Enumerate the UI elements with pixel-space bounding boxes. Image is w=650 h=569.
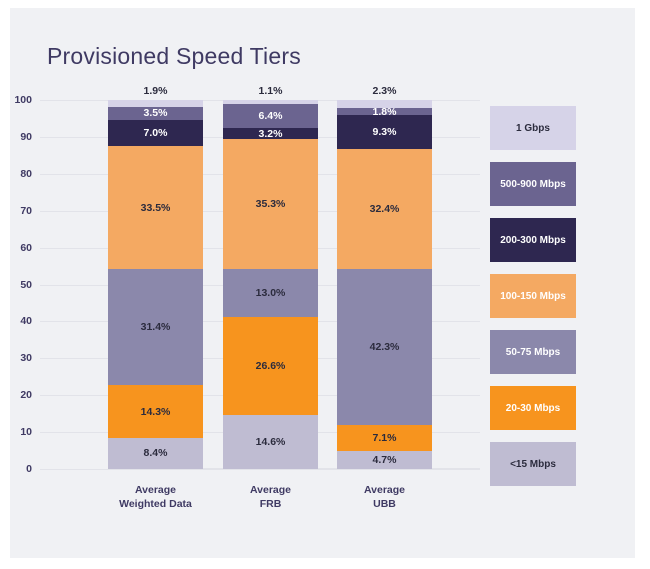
bar-segment[interactable]: 35.3% — [223, 139, 318, 269]
y-axis-tick-label: 10 — [20, 426, 32, 438]
bar-segment[interactable] — [337, 100, 432, 108]
bar-segment[interactable]: 7.0% — [108, 120, 203, 146]
legend-item[interactable]: 100-150 Mbps — [490, 274, 576, 318]
bar-group[interactable]: 1.8%9.3%32.4%42.3%7.1%4.7%2.3%AverageUBB — [337, 100, 432, 469]
y-axis-tick-label: 50 — [20, 279, 32, 291]
y-axis-tick-label: 70 — [20, 205, 32, 217]
y-axis-tick-label: 20 — [20, 389, 32, 401]
y-axis-tick-label: 80 — [20, 168, 32, 180]
legend-item[interactable]: 500-900 Mbps — [490, 162, 576, 206]
bar-segment[interactable]: 8.4% — [108, 438, 203, 469]
legend-item[interactable]: 50-75 Mbps — [490, 330, 576, 374]
y-axis-tick-label: 40 — [20, 315, 32, 327]
legend-item[interactable]: 200-300 Mbps — [490, 218, 576, 262]
bar-group[interactable]: 6.4%3.2%35.3%13.0%26.6%14.6%1.1%AverageF… — [223, 100, 318, 469]
y-axis-tick-label: 90 — [20, 131, 32, 143]
stacked-bar[interactable]: 1.8%9.3%32.4%42.3%7.1%4.7% — [337, 100, 432, 469]
chart-plot-area: 1009080706050403020100 3.5%7.0%33.5%31.4… — [40, 100, 480, 478]
bar-segment[interactable]: 13.0% — [223, 269, 318, 317]
bar-segment[interactable]: 4.7% — [337, 451, 432, 468]
y-axis-tick-label: 30 — [20, 352, 32, 364]
bar-segment[interactable]: 31.4% — [108, 269, 203, 385]
bar-group[interactable]: 3.5%7.0%33.5%31.4%14.3%8.4%1.9%AverageWe… — [108, 100, 203, 469]
chart-card: Provisioned Speed Tiers 1009080706050403… — [10, 8, 635, 558]
chart-legend: 1 Gbps500-900 Mbps200-300 Mbps100-150 Mb… — [490, 106, 576, 498]
bar-segment[interactable] — [108, 100, 203, 107]
bar-segment[interactable]: 3.2% — [223, 128, 318, 140]
bars-container: 3.5%7.0%33.5%31.4%14.3%8.4%1.9%AverageWe… — [108, 100, 480, 469]
x-axis-category-label: AverageFRB — [208, 483, 333, 511]
bar-segment[interactable]: 33.5% — [108, 146, 203, 270]
stacked-bar[interactable]: 3.5%7.0%33.5%31.4%14.3%8.4% — [108, 100, 203, 469]
y-axis-tick-label: 100 — [14, 94, 32, 106]
bar-segment[interactable]: 26.6% — [223, 317, 318, 415]
bar-segment[interactable]: 1.8% — [337, 108, 432, 115]
bar-segment[interactable]: 14.3% — [108, 385, 203, 438]
stacked-bar[interactable]: 6.4%3.2%35.3%13.0%26.6%14.6% — [223, 100, 318, 469]
bar-segment[interactable]: 32.4% — [337, 149, 432, 269]
page-title: Provisioned Speed Tiers — [47, 43, 301, 70]
bar-segment[interactable]: 42.3% — [337, 269, 432, 425]
gridline — [40, 469, 480, 470]
legend-item[interactable]: 20-30 Mbps — [490, 386, 576, 430]
bar-segment[interactable]: 7.1% — [337, 425, 432, 451]
legend-item[interactable]: <15 Mbps — [490, 442, 576, 486]
bar-segment[interactable]: 3.5% — [108, 107, 203, 120]
legend-item[interactable]: 1 Gbps — [490, 106, 576, 150]
bar-segment[interactable]: 6.4% — [223, 104, 318, 128]
bar-segment[interactable]: 9.3% — [337, 115, 432, 149]
x-axis-category-label: AverageWeighted Data — [93, 483, 218, 511]
bar-top-label: 1.9% — [108, 85, 203, 97]
y-axis-tick-label: 60 — [20, 242, 32, 254]
x-axis-category-label: AverageUBB — [322, 483, 447, 511]
bar-top-label: 2.3% — [337, 85, 432, 97]
bar-segment[interactable]: 14.6% — [223, 415, 318, 469]
bar-top-label: 1.1% — [223, 85, 318, 97]
y-axis-tick-label: 0 — [26, 463, 32, 475]
